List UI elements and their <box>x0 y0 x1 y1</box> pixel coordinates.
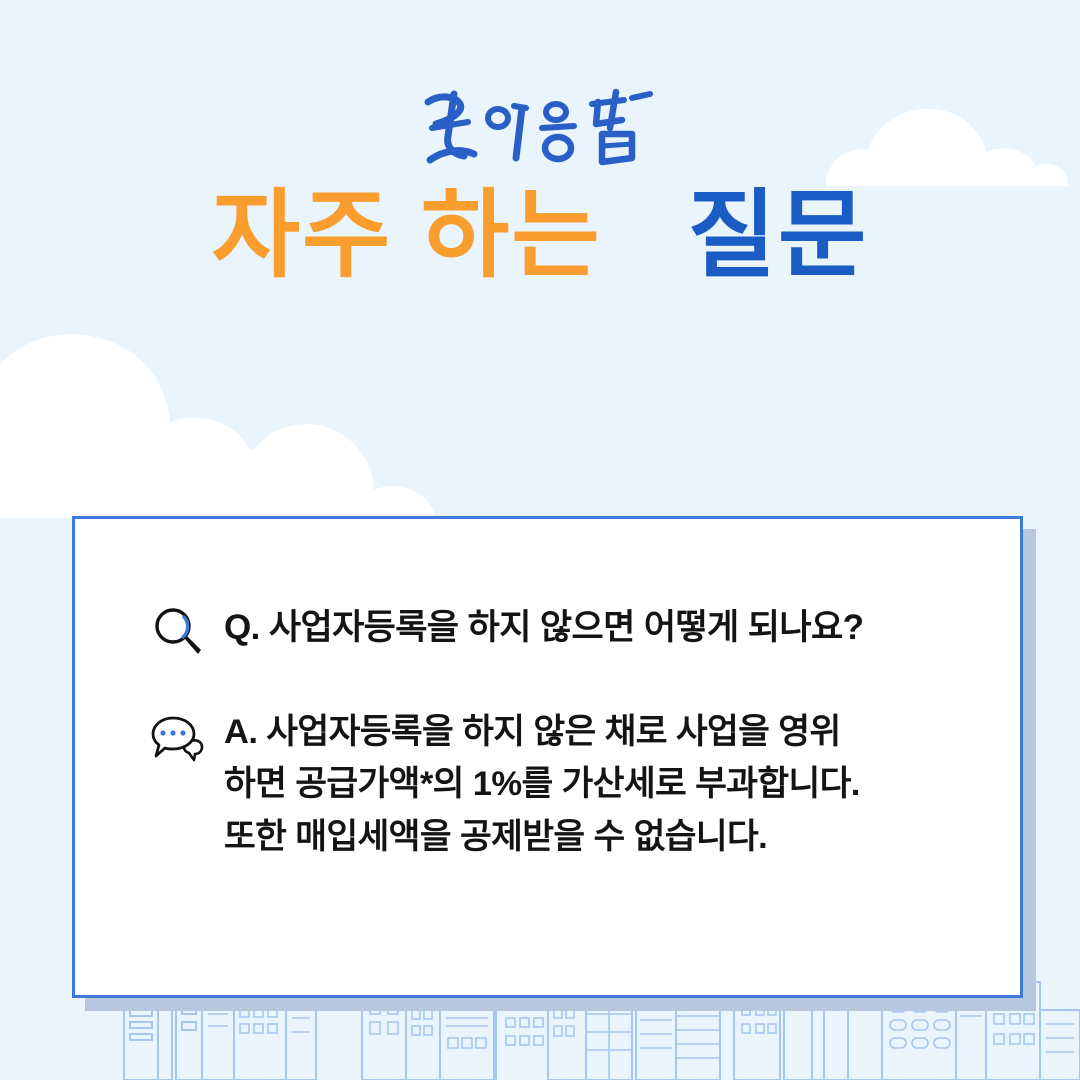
faq-answer-text: A. 사업자등록을 하지 않은 채로 사업을 영위 하면 공급가액*의 1%를 … <box>224 706 983 863</box>
page-title-part2: 질문 <box>688 182 869 289</box>
script-subtitle-artwork <box>410 84 670 170</box>
page-title-part1: 자주 하는 <box>212 182 602 289</box>
faq-content: Q. 사업자등록을 하지 않으면 어떻게 되나요? A. 사업자등록을 하지 않… <box>72 560 1023 863</box>
page-title: 자주 하는 질문 <box>0 186 1080 287</box>
faq-item-answer: A. 사업자등록을 하지 않은 채로 사업을 영위 하면 공급가액*의 1%를 … <box>150 706 983 863</box>
script-subtitle <box>0 84 1080 174</box>
speech-bubbles-icon <box>150 708 208 766</box>
magnifier-icon <box>150 604 208 662</box>
faq-item-question: Q. 사업자등록을 하지 않으면 어떻게 되나요? <box>150 602 983 662</box>
infographic-canvas: 자주 하는 질문 Q. 사업자등록을 하지 않으면 어떻게 되나요? <box>0 0 1080 1080</box>
faq-question-text: Q. 사업자등록을 하지 않으면 어떻게 되나요? <box>224 602 983 654</box>
